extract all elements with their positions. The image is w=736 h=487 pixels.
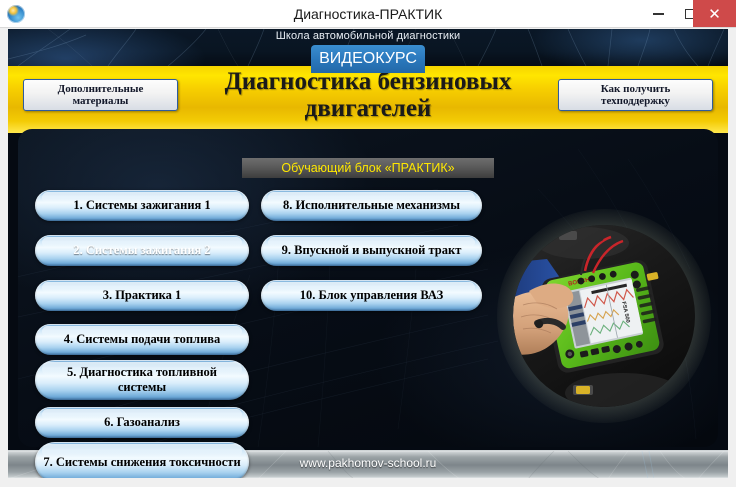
school-subtitle: Школа автомобильной диагностики <box>8 30 728 42</box>
menu-button-6-label: 6. Газоанализ <box>104 415 180 430</box>
window-title: Диагностика-ПРАКТИК <box>0 0 736 28</box>
title-bar: Диагностика-ПРАКТИК ✕ <box>0 0 736 28</box>
additional-materials-button[interactable]: Дополнительные материалы <box>23 79 178 111</box>
minimize-button[interactable] <box>642 0 674 27</box>
menu-button-4-label: 4. Системы подачи топлива <box>64 332 221 347</box>
menu-button-1-label: 1. Системы зажигания 1 <box>73 198 210 213</box>
app-canvas: Школа автомобильной диагностики ВИДЕОКУР… <box>8 29 728 478</box>
page-title: Диагностика бензиновых двигателей <box>158 68 578 122</box>
menu-button-3-label: 3. Практика 1 <box>103 288 182 303</box>
close-icon: ✕ <box>693 0 736 27</box>
diagnostic-device-photo: BOSCH FSA 500 <box>513 225 695 407</box>
tech-support-label-line2: техподдержку <box>601 95 671 108</box>
tab-videocourse[interactable]: ВИДЕОКУРС <box>311 45 425 73</box>
menu-button-9-label: 9. Впускной и выпускной тракт <box>282 243 462 258</box>
menu-button-3[interactable]: 3. Практика 1 <box>35 280 249 311</box>
additional-materials-label-line2: материалы <box>58 95 144 108</box>
training-block-label: Обучающий блок «ПРАКТИК» <box>242 158 494 178</box>
menu-button-7-label: 7. Системы снижения токсичности <box>43 455 240 470</box>
tech-support-label-line1: Как получить <box>601 83 671 96</box>
menu-button-5[interactable]: 5. Диагностика топливной системы <box>35 360 249 400</box>
menu-button-7[interactable]: 7. Системы снижения токсичности <box>35 442 249 478</box>
menu-button-8-label: 8. Исполнительные механизмы <box>283 198 460 213</box>
menu-button-10-label: 10. Блок управления ВАЗ <box>300 288 443 303</box>
menu-button-2-label: 2. Системы зажигания 2 <box>73 243 210 258</box>
photo-illustration-icon: BOSCH FSA 500 <box>513 225 695 407</box>
menu-button-5-label: 5. Диагностика топливной системы <box>43 365 241 395</box>
menu-button-6[interactable]: 6. Газоанализ <box>35 407 249 438</box>
additional-materials-label-line1: Дополнительные <box>58 83 144 96</box>
menu-button-10[interactable]: 10. Блок управления ВАЗ <box>261 280 482 311</box>
menu-button-2[interactable]: 2. Системы зажигания 2 <box>35 235 249 266</box>
application-window: Диагностика-ПРАКТИК ✕ <box>0 0 736 487</box>
tech-support-button[interactable]: Как получить техподдержку <box>558 79 713 111</box>
close-button[interactable]: ✕ <box>693 0 736 27</box>
menu-button-8[interactable]: 8. Исполнительные механизмы <box>261 190 482 221</box>
menu-button-1[interactable]: 1. Системы зажигания 1 <box>35 190 249 221</box>
page-title-line2: двигателей <box>158 95 578 122</box>
menu-button-4[interactable]: 4. Системы подачи топлива <box>35 324 249 355</box>
minimize-icon <box>642 0 674 27</box>
photo-circle: BOSCH FSA 500 <box>513 225 695 407</box>
menu-button-9[interactable]: 9. Впускной и выпускной тракт <box>261 235 482 266</box>
